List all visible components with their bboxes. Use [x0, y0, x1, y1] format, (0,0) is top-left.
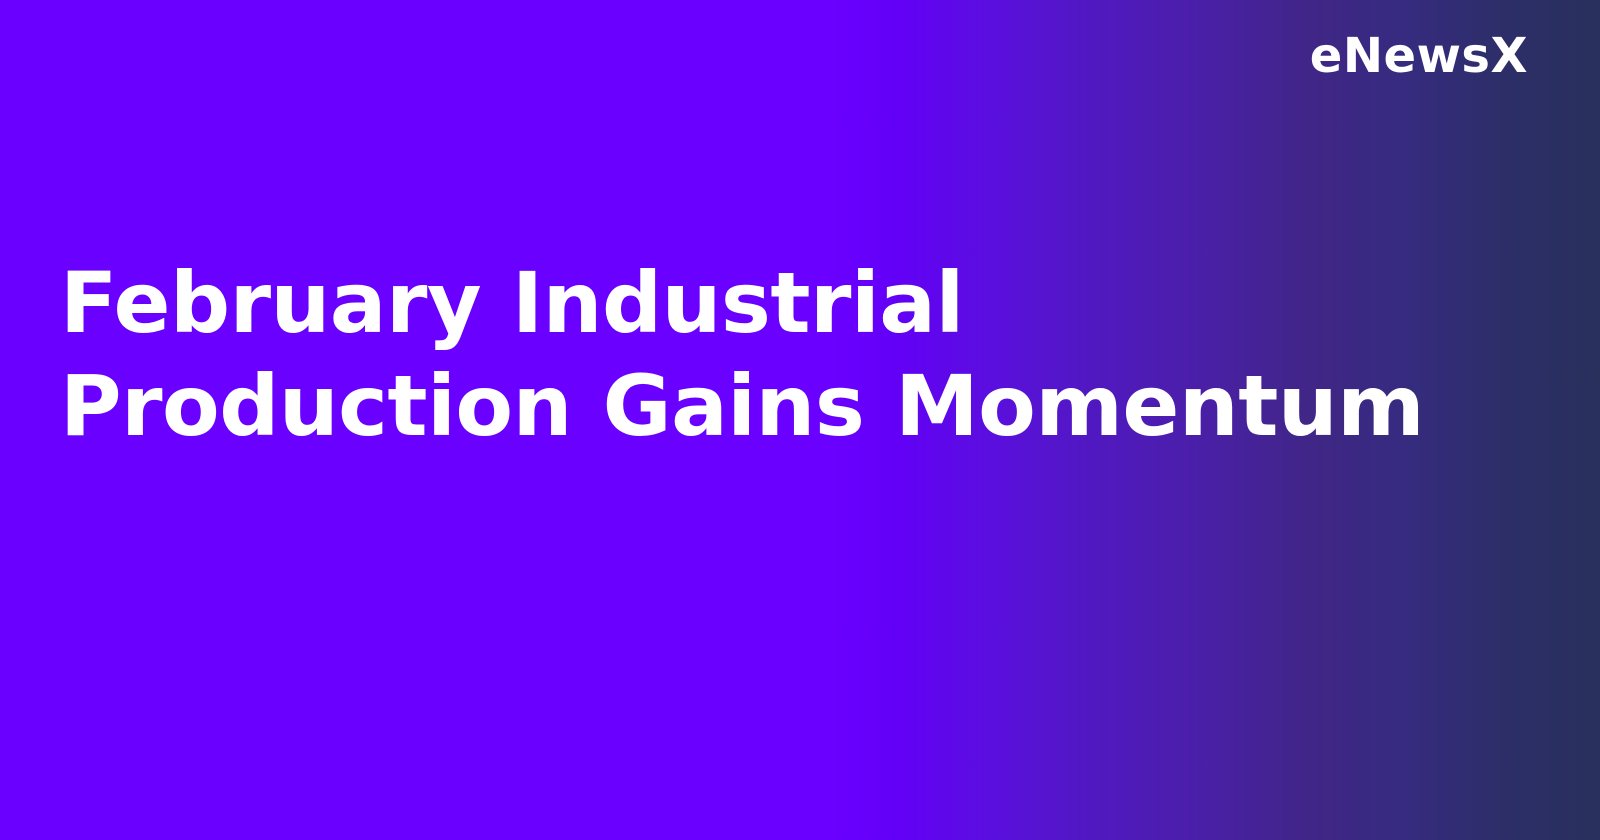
headline-block: February Industrial Production Gains Mom… [60, 252, 1480, 458]
brand-logo[interactable]: eNewsX [1310, 32, 1528, 80]
news-headline-card: eNewsX February Industrial Production Ga… [0, 0, 1600, 840]
page-title: February Industrial Production Gains Mom… [60, 252, 1480, 458]
